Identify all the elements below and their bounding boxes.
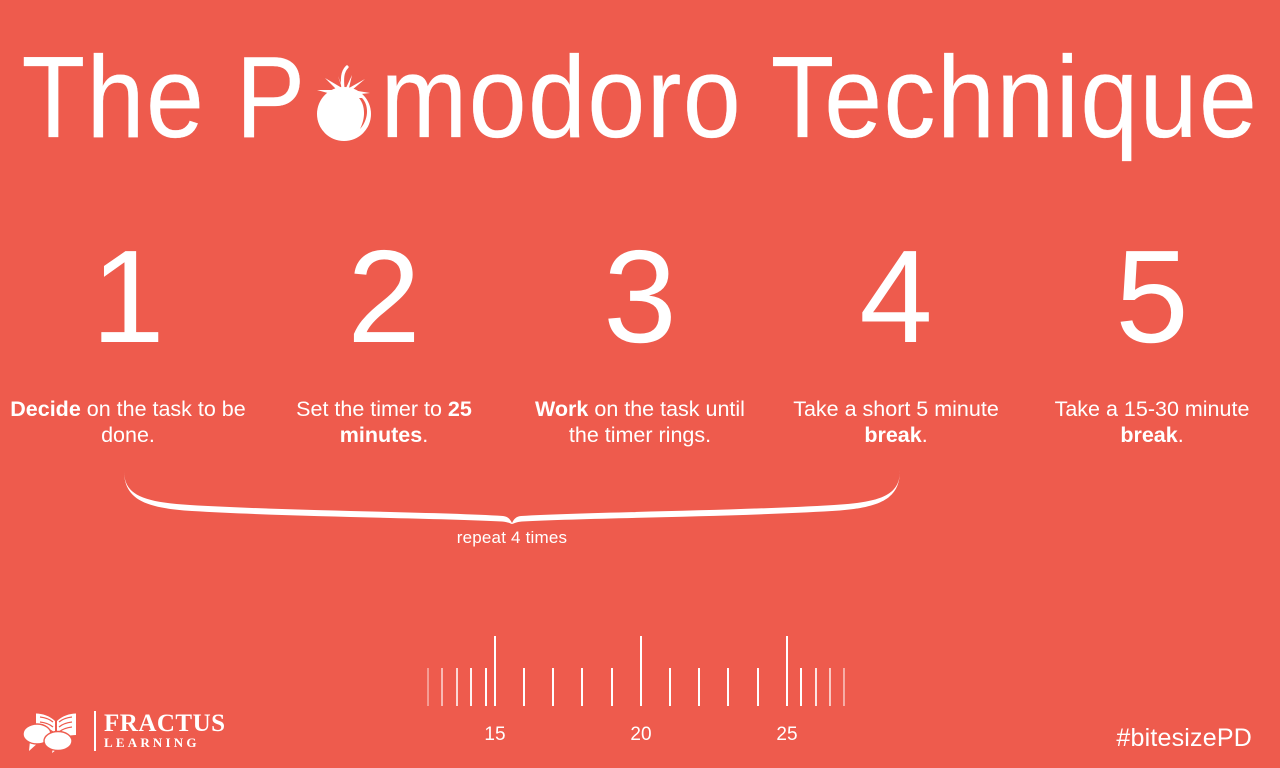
ruler-tick-minor — [800, 668, 802, 706]
pomodoro-infographic: The P modoro Technique 1 Decide on the t… — [0, 0, 1280, 768]
step-5: 5 Take a 15-30 minute break. — [1024, 238, 1280, 448]
step-description: Take a short 5 minute break. — [776, 396, 1016, 448]
ruler-tick-minor — [470, 668, 472, 706]
steps-row: 1 Decide on the task to be done. 2 Set t… — [0, 238, 1280, 448]
step-3: 3 Work on the task until the timer rings… — [512, 238, 768, 448]
step-number: 1 — [91, 238, 164, 356]
timer-ruler: 152025 — [400, 636, 880, 754]
ruler-tick-major — [640, 631, 642, 706]
ruler-tick-minor — [427, 668, 429, 706]
title-text-before-icon: The P — [22, 40, 307, 156]
step-description: Work on the task until the timer rings. — [520, 396, 760, 448]
ruler-tick-minor — [815, 668, 817, 706]
logo-fractus-text: FRACTUS — [104, 712, 226, 735]
step-2: 2 Set the timer to 25 minutes. — [256, 238, 512, 448]
ruler-label: 15 — [484, 724, 505, 746]
step-number: 5 — [1115, 238, 1188, 356]
step-number: 3 — [603, 238, 676, 356]
step-description: Set the timer to 25 minutes. — [264, 396, 504, 448]
ruler-tick-minor — [727, 668, 729, 706]
step-number: 4 — [859, 238, 932, 356]
step-1: 1 Decide on the task to be done. — [0, 238, 256, 448]
ruler-tick-minor — [611, 668, 613, 706]
ruler-tick-minor — [456, 668, 458, 706]
step-description: Decide on the task to be done. — [8, 396, 248, 448]
ruler-tick-minor — [698, 668, 700, 706]
step-description: Take a 15-30 minute break. — [1032, 396, 1272, 448]
book-speech-bubble-icon — [22, 709, 90, 753]
logo-divider — [94, 711, 96, 751]
tomato-icon — [307, 46, 381, 150]
logo-learning-text: LEARNING — [104, 735, 226, 750]
hashtag: #bitesizePD — [1116, 723, 1252, 753]
ruler-tick-major — [786, 631, 788, 706]
ruler-label: 20 — [630, 724, 651, 746]
repeat-label: repeat 4 times — [0, 528, 1024, 548]
ruler-tick-minor — [843, 668, 845, 706]
ruler-tick-minor — [581, 668, 583, 706]
ruler-tick-minor — [757, 668, 759, 706]
page-title: The P modoro Technique — [0, 34, 1280, 162]
ruler-tick-minor — [485, 668, 487, 706]
ruler-tick-minor — [829, 668, 831, 706]
logo-wordmark: FRACTUS LEARNING — [104, 712, 226, 750]
fractus-learning-logo: FRACTUS LEARNING — [22, 706, 222, 756]
title-text-after-icon: modoro Technique — [381, 40, 1259, 156]
repeat-brace-icon — [110, 468, 915, 524]
step-number: 2 — [347, 238, 420, 356]
ruler-tick-minor — [441, 668, 443, 706]
ruler-tick-minor — [669, 668, 671, 706]
step-4: 4 Take a short 5 minute break. — [768, 238, 1024, 448]
ruler-tick-minor — [552, 668, 554, 706]
ruler-tick-major — [494, 631, 496, 706]
ruler-tick-minor — [523, 668, 525, 706]
ruler-label: 25 — [776, 724, 797, 746]
